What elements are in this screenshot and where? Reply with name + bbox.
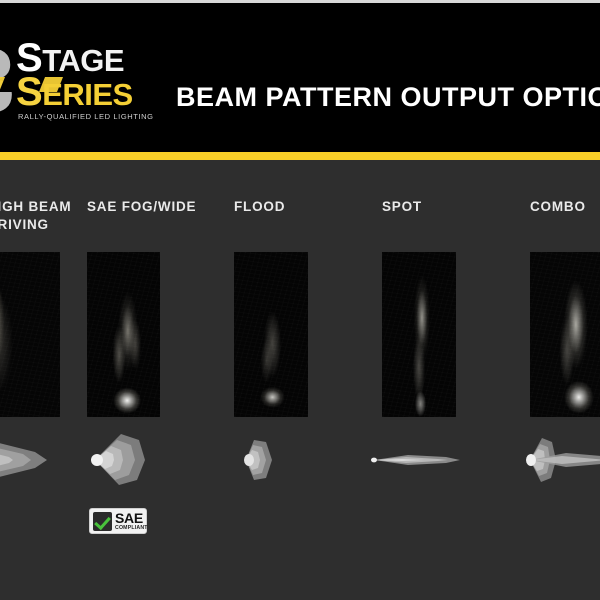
- logo-line-series: SERIES: [16, 77, 166, 110]
- beam-options-row: HIGH BEAM DRIVING: [0, 160, 600, 600]
- logo-wordmark: STAGE SERIES RALLY-QUALIFIED LED LIGHTIN…: [16, 43, 166, 121]
- beam-photo-grain: [530, 252, 600, 417]
- logo-stage-rest: TAGE: [42, 43, 124, 78]
- header-bar: 3 STAGE SERIES RALLY-QUALIFIED LED LIGHT…: [0, 3, 600, 152]
- beam-diagram-high-beam-driving: [0, 430, 75, 490]
- sae-badge-title: SAE: [115, 511, 148, 525]
- beam-photo-high-beam-driving: [0, 252, 60, 417]
- sae-badge-subtitle: COMPLIANT: [115, 526, 148, 531]
- beam-column-spot[interactable]: SPOT: [382, 160, 456, 600]
- beam-column-high-beam-driving[interactable]: HIGH BEAM DRIVING: [0, 160, 60, 600]
- page-title: BEAM PATTERN OUTPUT OPTIONS: [176, 82, 600, 112]
- logo-series-rest: ERIES: [42, 77, 133, 112]
- logo-series-capital: S: [16, 70, 42, 114]
- beam-diagram-combo: [516, 430, 600, 490]
- beam-photo-flood: [234, 252, 308, 417]
- beam-pattern-infographic: 3 STAGE SERIES RALLY-QUALIFIED LED LIGHT…: [0, 0, 600, 600]
- beam-photo-grain: [382, 252, 456, 417]
- beam-diagram-sae-fog-wide: [73, 430, 175, 490]
- beam-label-line1: SPOT: [382, 198, 532, 216]
- beam-label-line1: SAE FOG/WIDE: [87, 198, 237, 216]
- beam-column-sae-fog-wide[interactable]: SAE FOG/WIDE: [87, 160, 160, 600]
- beam-diagram-spot: [368, 430, 470, 490]
- sae-compliant-badge: SAE COMPLIANT: [89, 508, 147, 534]
- beam-photo-combo: [530, 252, 600, 417]
- stage-series-logo: 3 STAGE SERIES RALLY-QUALIFIED LED LIGHT…: [0, 33, 158, 133]
- beam-photo-grain: [234, 252, 308, 417]
- beam-label-line1: FLOOD: [234, 198, 384, 216]
- beam-label-spot: SPOT: [382, 198, 532, 216]
- beam-label-flood: FLOOD: [234, 198, 384, 216]
- beam-diagram-flood: [220, 430, 322, 490]
- beam-label-sae-fog-wide: SAE FOG/WIDE: [87, 198, 237, 216]
- yellow-accent-bar: [0, 152, 600, 160]
- sae-badge-text: SAE COMPLIANT: [115, 511, 148, 531]
- beam-photo-spot: [382, 252, 456, 417]
- check-icon: [93, 512, 112, 531]
- beam-photo-grain: [87, 252, 160, 417]
- beam-label-combo: COMBO: [530, 198, 600, 216]
- beam-label-line1: COMBO: [530, 198, 600, 216]
- beam-photo-sae-fog-wide: [87, 252, 160, 417]
- beam-column-flood[interactable]: FLOOD: [234, 160, 308, 600]
- beam-photo-grain: [0, 252, 60, 417]
- beam-column-combo[interactable]: COMBO: [530, 160, 600, 600]
- logo-tagline: RALLY-QUALIFIED LED LIGHTING: [18, 112, 166, 121]
